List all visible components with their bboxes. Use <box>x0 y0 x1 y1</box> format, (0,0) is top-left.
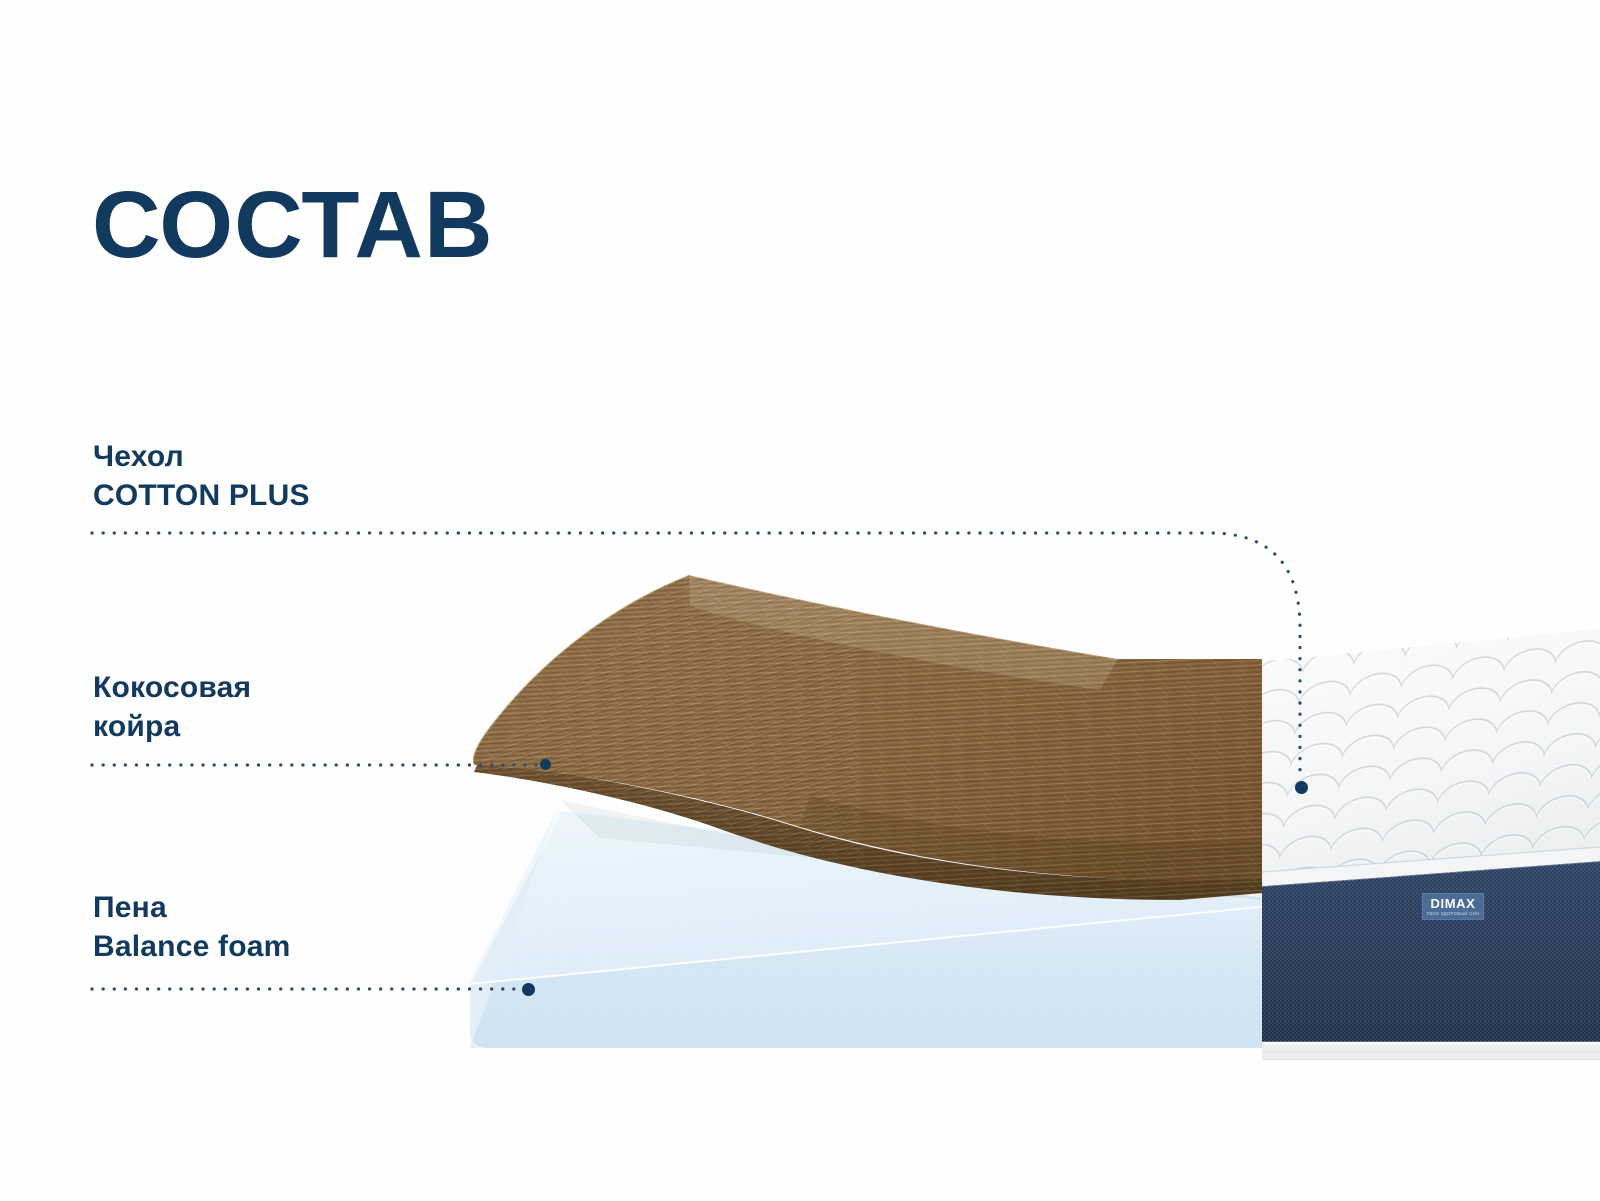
label-coir-line2: койра <box>93 707 251 746</box>
dimax-brand-badge: DIMAX ТВОИ ЗДОРОВЫЙ СОН <box>1422 893 1484 920</box>
label-foam-line2: Balance foam <box>93 927 290 966</box>
leader-endpoint-cover <box>1295 781 1308 794</box>
dimax-brand-tagline: ТВОИ ЗДОРОВЫЙ СОН <box>1426 911 1479 917</box>
cover-cotton-plus <box>1240 628 1600 886</box>
label-cover-line2: COTTON PLUS <box>93 476 310 515</box>
label-coir-line1: Кокосовая <box>93 668 251 707</box>
label-cover: Чехол COTTON PLUS <box>93 437 310 515</box>
label-cover-line1: Чехол <box>93 437 310 476</box>
dimax-brand-name: DIMAX <box>1431 897 1476 911</box>
leader-endpoint-coir <box>540 759 551 770</box>
foam-layer-shape <box>0 0 1600 1201</box>
illustration-canvas: СОСТАВ <box>0 0 1600 1201</box>
label-foam-line1: Пена <box>93 888 290 927</box>
mattress-exploded-illustration: DIMAX ТВОИ ЗДОРОВЫЙ СОН <box>0 0 1600 1201</box>
leader-endpoint-foam <box>522 983 535 996</box>
mattress-side-panel <box>1262 861 1600 1060</box>
label-coir: Кокосовая койра <box>93 668 251 746</box>
label-foam: Пена Balance foam <box>93 888 290 966</box>
